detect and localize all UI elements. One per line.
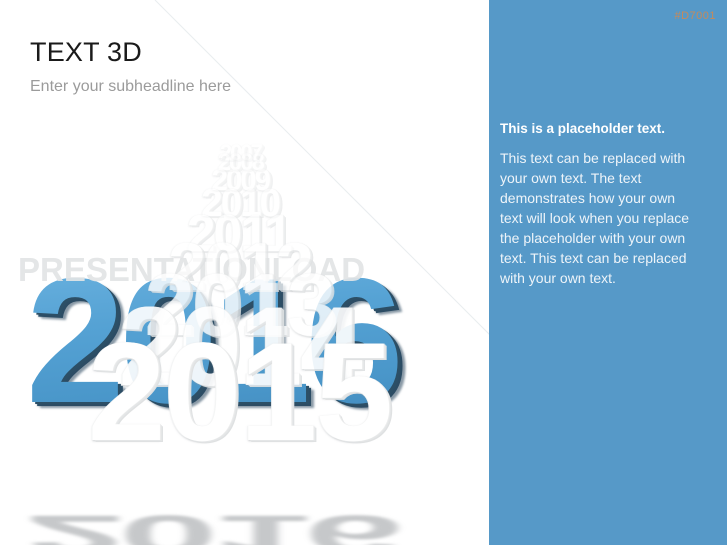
left-content-area: TEXT 3D Enter your subheadline here 2007… (0, 0, 489, 545)
page-title[interactable]: TEXT 3D (30, 36, 142, 68)
slide-canvas: TEXT 3D Enter your subheadline here 2007… (0, 0, 727, 545)
ghost-year-2015: 2015 (88, 322, 391, 462)
panel-heading[interactable]: This is a placeholder text. (500, 120, 715, 138)
panel-body-text[interactable]: This text can be replaced with your own … (500, 148, 698, 288)
page-subtitle[interactable]: Enter your subheadline here (30, 77, 231, 97)
year-reflection-near: 2016 (26, 507, 398, 545)
slide-code-label: #D7001 (674, 9, 716, 23)
year-3d-graphic: 200720082009201020112012201320142015 201… (0, 100, 489, 545)
side-panel: #D7001 This is a placeholder text. This … (489, 0, 727, 545)
